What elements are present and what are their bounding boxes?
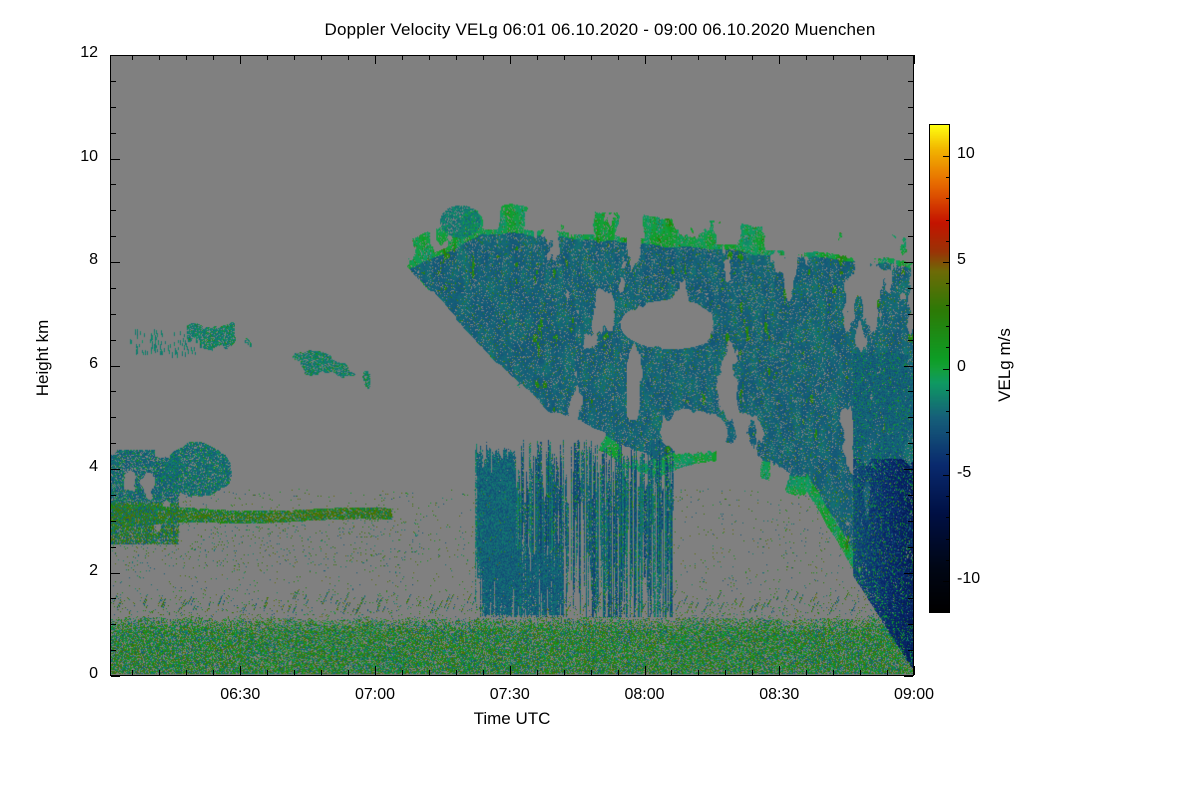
x-tick-minor [671, 670, 672, 675]
x-tick-minor-top [186, 55, 187, 60]
colorbar-tick-minor [946, 220, 949, 221]
chart-title: Doppler Velocity VELg 06:01 06.10.2020 -… [0, 20, 1200, 40]
x-tick-major [375, 666, 376, 675]
y-tick-minor [111, 624, 116, 625]
x-tick-minor-top [833, 55, 834, 60]
colorbar-tick-major [943, 156, 949, 157]
y-tick-major [111, 676, 120, 677]
x-tick-minor [483, 670, 484, 675]
y-tick-major-right [904, 262, 913, 263]
y-tick-minor-right [908, 236, 913, 237]
y-tick-minor-right [908, 210, 913, 211]
y-tick-major [111, 159, 120, 160]
y-tick-minor-right [908, 314, 913, 315]
colorbar-tick-label: -5 [957, 464, 1017, 482]
colorbar-tick-minor [946, 454, 949, 455]
x-tick-minor-top [294, 55, 295, 60]
x-tick-minor-top [132, 55, 133, 60]
colorbar-tick-minor [946, 305, 949, 306]
y-tick-minor [111, 521, 116, 522]
x-tick-label: 07:00 [330, 686, 420, 704]
x-tick-minor-top [321, 55, 322, 60]
x-tick-minor [294, 670, 295, 675]
colorbar-tick-label: 10 [957, 145, 1017, 163]
colorbar-tick-minor [946, 411, 949, 412]
y-tick-minor-right [908, 521, 913, 522]
x-tick-minor-top [429, 55, 430, 60]
x-tick-minor [132, 670, 133, 675]
y-tick-minor [111, 417, 116, 418]
x-tick-minor [537, 670, 538, 675]
x-tick-minor-top [483, 55, 484, 60]
y-tick-minor [111, 443, 116, 444]
x-tick-major-top [240, 55, 241, 64]
colorbar-tick-minor [946, 326, 949, 327]
y-tick-minor [111, 133, 116, 134]
x-tick-minor [860, 670, 861, 675]
x-tick-major [510, 666, 511, 675]
x-tick-minor [456, 670, 457, 675]
x-tick-minor-top [752, 55, 753, 60]
x-tick-minor-top [402, 55, 403, 60]
x-tick-minor [402, 670, 403, 675]
x-tick-minor-top [213, 55, 214, 60]
x-tick-major [240, 666, 241, 675]
y-tick-minor [111, 210, 116, 211]
y-tick-major [111, 469, 120, 470]
colorbar-tick-label: 5 [957, 251, 1017, 269]
colorbar-tick-major [943, 369, 949, 370]
y-tick-minor [111, 495, 116, 496]
colorbar-tick-minor [946, 241, 949, 242]
x-tick-minor [564, 670, 565, 675]
x-tick-minor-top [887, 55, 888, 60]
x-tick-label: 08:30 [734, 686, 824, 704]
colorbar-tick-minor [946, 198, 949, 199]
colorbar-tick-minor [946, 517, 949, 518]
y-tick-label: 8 [38, 251, 98, 269]
x-axis-title: Time UTC [110, 709, 914, 729]
x-tick-minor [213, 670, 214, 675]
x-tick-minor-top [591, 55, 592, 60]
x-tick-label: 09:00 [869, 686, 959, 704]
x-tick-minor-top [671, 55, 672, 60]
colorbar-tick-minor [946, 560, 949, 561]
y-tick-minor-right [908, 495, 913, 496]
y-tick-minor-right [908, 443, 913, 444]
colorbar-tick-minor [946, 283, 949, 284]
x-tick-major-top [779, 55, 780, 64]
y-tick-minor-right [908, 598, 913, 599]
colorbar-tick-major [943, 475, 949, 476]
colorbar-tick-major [943, 262, 949, 263]
y-tick-minor [111, 598, 116, 599]
x-tick-minor [159, 670, 160, 675]
x-tick-minor [186, 670, 187, 675]
x-tick-minor [833, 670, 834, 675]
x-tick-minor-top [267, 55, 268, 60]
x-tick-minor-top [456, 55, 457, 60]
x-tick-major-top [375, 55, 376, 64]
y-tick-minor-right [908, 391, 913, 392]
y-tick-major-right [904, 469, 913, 470]
radar-plot-area [110, 55, 914, 676]
y-tick-minor [111, 650, 116, 651]
x-tick-minor [348, 670, 349, 675]
y-tick-minor-right [908, 184, 913, 185]
y-tick-label: 10 [38, 148, 98, 166]
y-tick-minor [111, 107, 116, 108]
y-tick-major-right [904, 676, 913, 677]
x-tick-minor [806, 670, 807, 675]
x-tick-label: 06:30 [195, 686, 285, 704]
y-tick-major [111, 55, 120, 56]
y-tick-minor-right [908, 107, 913, 108]
y-tick-minor [111, 236, 116, 237]
y-tick-label: 0 [38, 665, 98, 683]
y-tick-minor [111, 314, 116, 315]
y-tick-minor-right [908, 547, 913, 548]
doppler-velocity-heatmap [111, 56, 913, 675]
y-tick-major [111, 262, 120, 263]
y-tick-minor [111, 81, 116, 82]
x-tick-minor-top [725, 55, 726, 60]
y-tick-minor-right [908, 624, 913, 625]
colorbar-tick-minor [946, 496, 949, 497]
y-tick-minor [111, 391, 116, 392]
y-tick-major-right [904, 366, 913, 367]
y-tick-minor-right [908, 340, 913, 341]
y-tick-major [111, 366, 120, 367]
x-tick-minor [321, 670, 322, 675]
y-tick-major-right [904, 159, 913, 160]
colorbar-tick-minor [946, 432, 949, 433]
y-tick-label: 2 [38, 562, 98, 580]
y-tick-major-right [904, 55, 913, 56]
x-tick-minor-top [537, 55, 538, 60]
x-tick-minor-top [159, 55, 160, 60]
x-tick-minor-top [806, 55, 807, 60]
x-tick-minor-top [348, 55, 349, 60]
y-tick-major-right [904, 573, 913, 574]
y-tick-label: 4 [38, 458, 98, 476]
x-tick-minor [725, 670, 726, 675]
x-tick-major-top [645, 55, 646, 64]
y-tick-minor [111, 340, 116, 341]
colorbar-tick-label: -10 [957, 570, 1017, 588]
x-tick-minor [698, 670, 699, 675]
colorbar-tick-minor [946, 177, 949, 178]
colorbar-tick-minor [946, 390, 949, 391]
x-tick-minor [887, 670, 888, 675]
y-tick-label: 12 [38, 44, 98, 62]
x-tick-minor-top [698, 55, 699, 60]
colorbar-tick-minor [946, 539, 949, 540]
x-tick-major [914, 666, 915, 675]
y-tick-minor [111, 547, 116, 548]
y-tick-minor-right [908, 133, 913, 134]
y-tick-minor-right [908, 288, 913, 289]
colorbar-title: VELg m/s [995, 295, 1015, 435]
x-tick-minor [752, 670, 753, 675]
x-tick-minor [591, 670, 592, 675]
y-tick-minor-right [908, 81, 913, 82]
x-tick-minor-top [860, 55, 861, 60]
x-tick-major-top [510, 55, 511, 64]
x-tick-major [779, 666, 780, 675]
y-axis-title: Height km [33, 298, 53, 418]
y-tick-minor-right [908, 650, 913, 651]
x-tick-major [645, 666, 646, 675]
colorbar-tick-major [943, 581, 949, 582]
x-tick-minor [267, 670, 268, 675]
x-tick-label: 08:00 [600, 686, 690, 704]
y-tick-minor [111, 288, 116, 289]
x-tick-minor-top [618, 55, 619, 60]
x-tick-major-top [914, 55, 915, 64]
y-tick-minor [111, 184, 116, 185]
y-tick-major [111, 573, 120, 574]
colorbar-tick-minor [946, 347, 949, 348]
x-tick-minor-top [564, 55, 565, 60]
x-tick-label: 07:30 [465, 686, 555, 704]
y-tick-minor-right [908, 417, 913, 418]
x-tick-minor [618, 670, 619, 675]
x-tick-minor [429, 670, 430, 675]
